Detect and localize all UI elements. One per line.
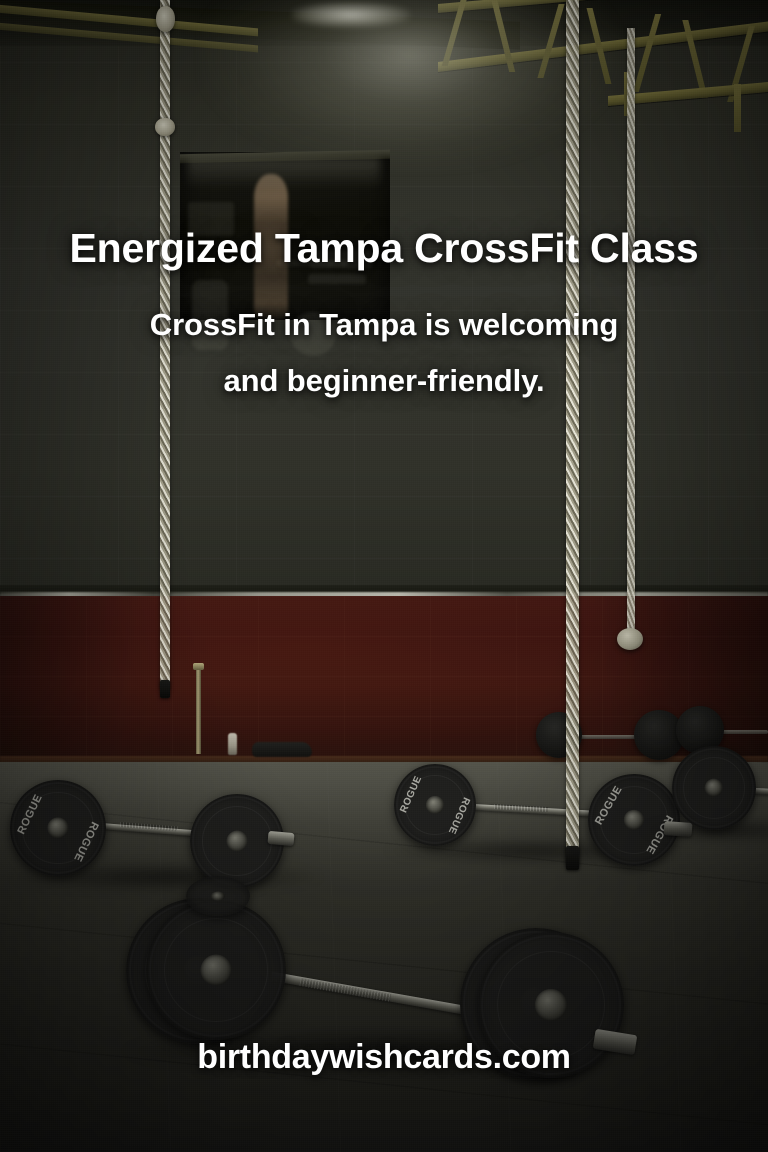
- poster-subheadline: CrossFit in Tampa is welcoming and begin…: [0, 297, 768, 409]
- poster-canvas: ROGUE ROGUE ROGUE ROGUE ROGUE ROGUE: [0, 0, 768, 1152]
- site-watermark: birthdaywishcards.com: [0, 1038, 768, 1077]
- text-overlay: Energized Tampa CrossFit Class CrossFit …: [0, 0, 768, 1152]
- subheadline-line-1: CrossFit in Tampa is welcoming: [60, 297, 708, 353]
- subheadline-line-2: and beginner-friendly.: [60, 353, 708, 409]
- poster-headline: Energized Tampa CrossFit Class: [0, 224, 768, 272]
